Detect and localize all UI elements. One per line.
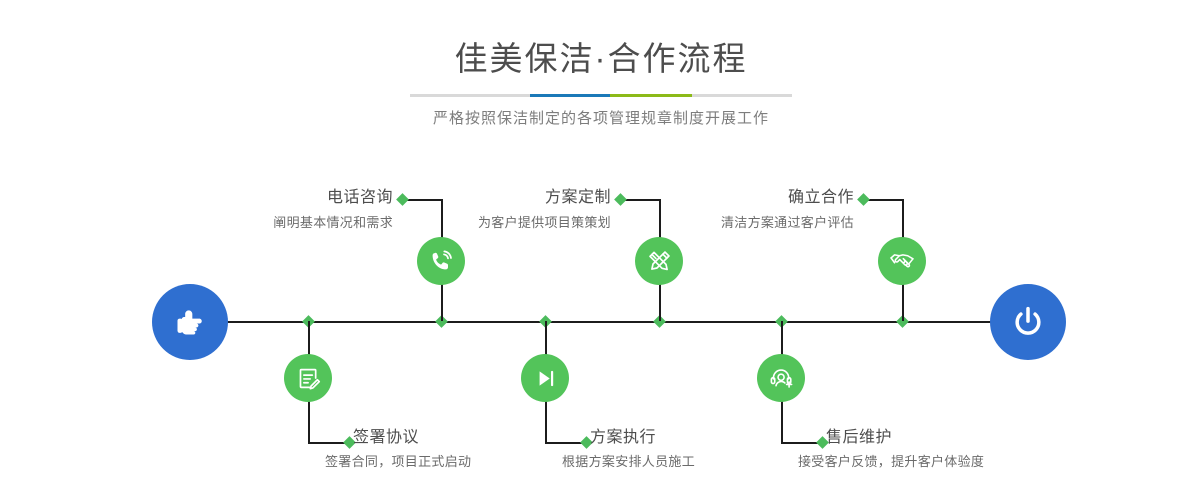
timeline-start-node[interactable]	[152, 284, 228, 360]
step-desc-5: 清洁方案通过客户评估	[602, 214, 854, 232]
step-icon-4[interactable]	[521, 354, 569, 402]
step-icon-3[interactable]	[635, 237, 683, 285]
step-title-1: 电话咨询	[181, 188, 393, 208]
phone-call-icon	[427, 247, 455, 275]
power-icon	[1008, 302, 1048, 342]
step-desc-2: 签署合同，项目正式启动	[325, 453, 471, 471]
step-title-3: 方案定制	[399, 188, 611, 208]
step-icon-6[interactable]	[757, 354, 805, 402]
label-diamond	[857, 193, 870, 206]
customer-service-add-icon	[768, 365, 795, 392]
flow-diagram-page: 佳美保洁·合作流程 严格按照保洁制定的各项管理规章制度开展工作	[0, 0, 1202, 502]
pointing-hand-icon	[170, 302, 210, 342]
pencil-ruler-icon	[646, 248, 673, 275]
document-edit-icon	[295, 365, 322, 392]
step-desc-1: 阐明基本情况和需求	[141, 214, 393, 232]
timeline-end-node[interactable]	[990, 284, 1066, 360]
step-icon-2[interactable]	[284, 354, 332, 402]
step-title-2: 签署协议	[353, 428, 419, 448]
step-icon-1[interactable]	[417, 237, 465, 285]
step-title-4: 方案执行	[590, 428, 656, 448]
step-desc-3: 为客户提供项目策策划	[359, 214, 611, 232]
step-title-5: 确立合作	[642, 188, 854, 208]
step-icon-5[interactable]	[878, 237, 926, 285]
label-diamond	[614, 193, 627, 206]
step-desc-6: 接受客户反馈，提升客户体验度	[798, 453, 984, 471]
handshake-icon	[888, 247, 916, 275]
step-title-6: 售后维护	[826, 428, 892, 448]
play-execute-icon	[532, 365, 559, 392]
step-desc-4: 根据方案安排人员施工	[562, 453, 695, 471]
process-timeline: 电话咨询 阐明基本情况和需求 签署协议	[0, 0, 1202, 502]
